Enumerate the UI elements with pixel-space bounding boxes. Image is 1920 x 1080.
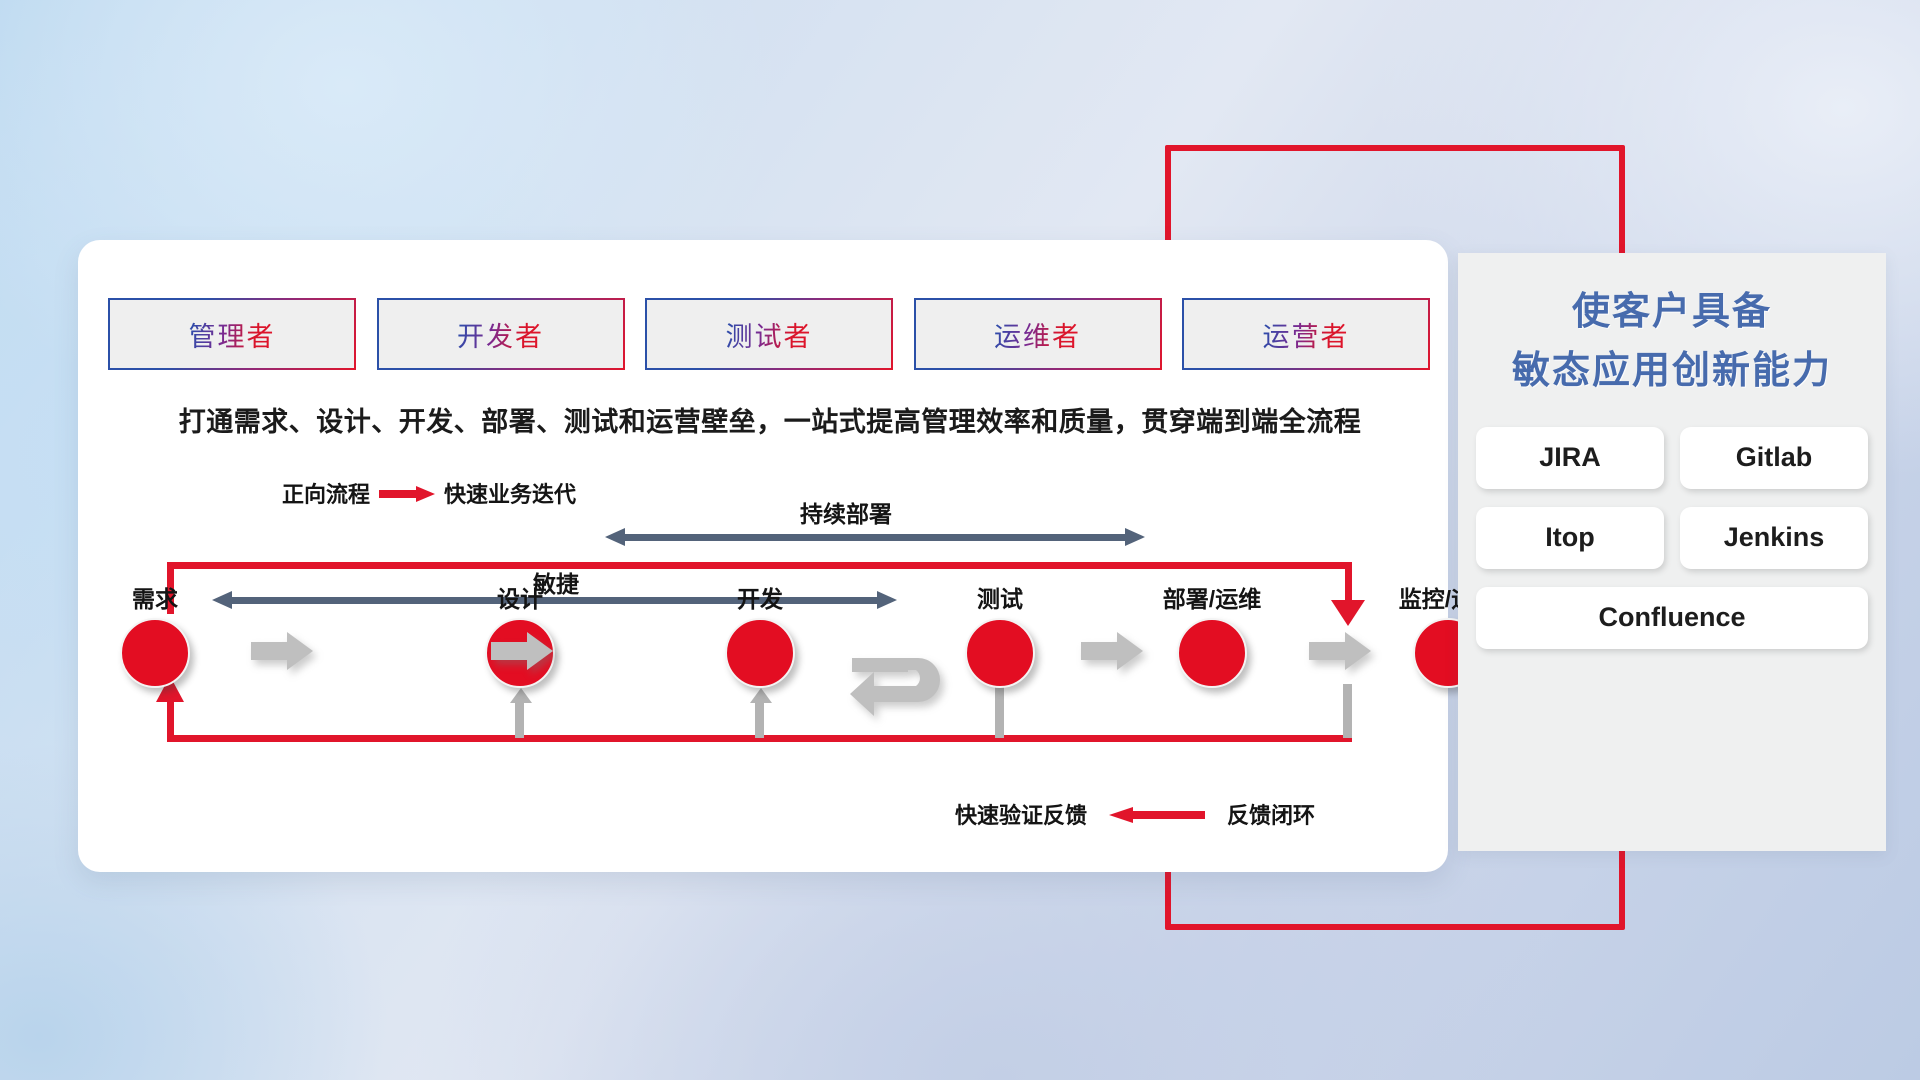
role-box-ops[interactable]: 运维者	[916, 300, 1160, 368]
feedback-stem-design	[515, 702, 524, 738]
continuous-delivery-caption: 持续部署	[800, 495, 892, 529]
role-boxes-row: 管理者 开发者 测试者 运维者 运营者	[110, 300, 1428, 370]
feedback-stem-monitor	[1343, 684, 1352, 738]
feedback-loop-label: 反馈闭环	[1227, 798, 1315, 830]
role-label: 运营者	[1263, 315, 1350, 354]
pipeline-node-dot	[725, 618, 795, 688]
pipeline-node-label: 部署/运维	[1163, 580, 1261, 614]
pipeline-node-dot	[120, 618, 190, 688]
pipeline-node-deploy-ops[interactable]: 部署/运维	[1175, 618, 1249, 688]
feedback-stem-head-design	[510, 688, 532, 703]
tool-chip-jira[interactable]: JIRA	[1476, 427, 1664, 489]
flow-arrow-icon-2	[491, 632, 553, 670]
side-panel: 使客户具备 敏态应用创新能力 JIRA Gitlab Itop Jenkins …	[1458, 253, 1886, 851]
arrow-left-red-icon	[1109, 807, 1205, 822]
pipeline-node-testing[interactable]: 测试	[963, 618, 1037, 688]
pipeline-node-label: 需求	[132, 580, 178, 614]
side-panel-title-line1: 使客户具备	[1458, 283, 1886, 342]
flow-arrow-icon-3	[1081, 632, 1143, 670]
feedback-legend: 快速验证反馈 反馈闭环	[955, 798, 1315, 830]
feedback-stem-head-dev	[750, 688, 772, 703]
feedback-stem-test	[995, 684, 1004, 738]
forward-flow-label: 正向流程	[282, 477, 370, 509]
feedback-stem-dev	[755, 702, 764, 738]
role-box-developer[interactable]: 开发者	[379, 300, 623, 368]
fast-verification-label: 快速验证反馈	[955, 798, 1087, 830]
headline-text: 打通需求、设计、开发、部署、测试和运营壁垒，一站式提高管理效率和质量，贯穿端到端…	[110, 400, 1430, 439]
tool-chip-gitlab[interactable]: Gitlab	[1680, 427, 1868, 489]
role-label: 管理者	[189, 315, 276, 354]
role-box-tester[interactable]: 测试者	[647, 300, 891, 368]
pipeline-node-label: 测试	[977, 580, 1023, 614]
agile-arrow-icon	[212, 591, 897, 609]
tool-chip-itop[interactable]: Itop	[1476, 507, 1664, 569]
pipeline-node-requirement[interactable]: 需求	[118, 618, 192, 688]
tool-chip-list: JIRA Gitlab Itop Jenkins Confluence	[1476, 427, 1868, 649]
pipeline-node-dot	[965, 618, 1035, 688]
side-panel-title-line2: 敏态应用创新能力	[1458, 342, 1886, 401]
pipeline-node-label: 开发	[737, 580, 783, 614]
pipeline-node-label: 设计	[497, 580, 543, 614]
fast-iteration-label: 快速业务迭代	[444, 477, 576, 509]
loop-back-arrow-icon	[848, 642, 960, 728]
forward-flow-legend: 正向流程 快速业务迭代	[282, 477, 576, 509]
role-label: 开发者	[457, 315, 544, 354]
pipeline-row: 需求 设计 开发 测试 部署/运维 监控/运营	[118, 618, 1438, 708]
role-label: 测试者	[726, 315, 813, 354]
flow-arrow-icon-1	[251, 632, 313, 670]
role-box-manager[interactable]: 管理者	[110, 300, 354, 368]
flow-arrow-icon-4	[1309, 632, 1371, 670]
pipeline-node-development[interactable]: 开发	[723, 618, 797, 688]
side-panel-title: 使客户具备 敏态应用创新能力	[1458, 283, 1886, 401]
arrow-right-red-icon	[379, 486, 435, 501]
role-label: 运维者	[994, 315, 1081, 354]
pipeline-node-dot	[1177, 618, 1247, 688]
tool-chip-jenkins[interactable]: Jenkins	[1680, 507, 1868, 569]
continuous-delivery-arrow-icon	[605, 528, 1145, 546]
role-box-operations[interactable]: 运营者	[1184, 300, 1428, 368]
tool-chip-confluence[interactable]: Confluence	[1476, 587, 1868, 649]
red-rail-top	[167, 562, 1352, 569]
